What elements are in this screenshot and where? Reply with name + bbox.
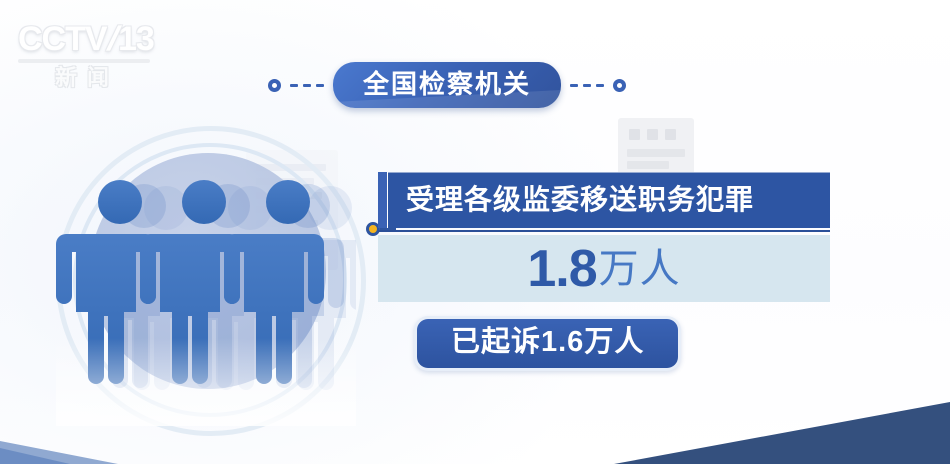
- infographic-canvas: CCTV/13 新闻 全国检察机关: [0, 0, 950, 464]
- cctv-logo-underline: [18, 59, 150, 63]
- cctv-logo-letters: CCTV: [18, 20, 107, 58]
- title-banner: 全国检察机关: [268, 62, 626, 108]
- heading-accent-bar: [378, 172, 387, 228]
- cctv-logo-text: CCTV/13: [18, 22, 156, 56]
- background-card-document: [618, 118, 694, 176]
- cctv13-logo: CCTV/13 新闻: [18, 22, 156, 90]
- people-illustration: [56, 126, 356, 426]
- ring-dot-icon-left: [268, 79, 281, 92]
- stat-heading-band: 受理各级监委移送职务犯罪: [378, 172, 830, 228]
- stat-heading-text: 受理各级监委移送职务犯罪: [406, 186, 754, 214]
- ring-dot-icon-right: [613, 79, 626, 92]
- stat-value-number: 1.8: [527, 243, 596, 295]
- prosecuted-badge-frame: 已起诉1.6万人: [414, 316, 681, 371]
- dashed-line-left: [290, 84, 324, 87]
- people-group-icon: [56, 126, 356, 426]
- stat-block: 受理各级监委移送职务犯罪 1.8万人: [378, 172, 830, 302]
- cctv-logo-number: 13: [118, 20, 154, 58]
- prosecuted-badge-text: 已起诉1.6万人: [417, 319, 678, 368]
- page-title: 全国检察机关: [333, 62, 561, 108]
- stat-value-unit: 万人: [599, 249, 681, 289]
- stat-value-panel: 1.8万人: [378, 235, 830, 302]
- dashed-line-right: [570, 84, 604, 87]
- background-card-squares: [629, 129, 676, 140]
- cctv-logo-subtitle: 新闻: [18, 66, 156, 90]
- stat-divider: [378, 230, 830, 232]
